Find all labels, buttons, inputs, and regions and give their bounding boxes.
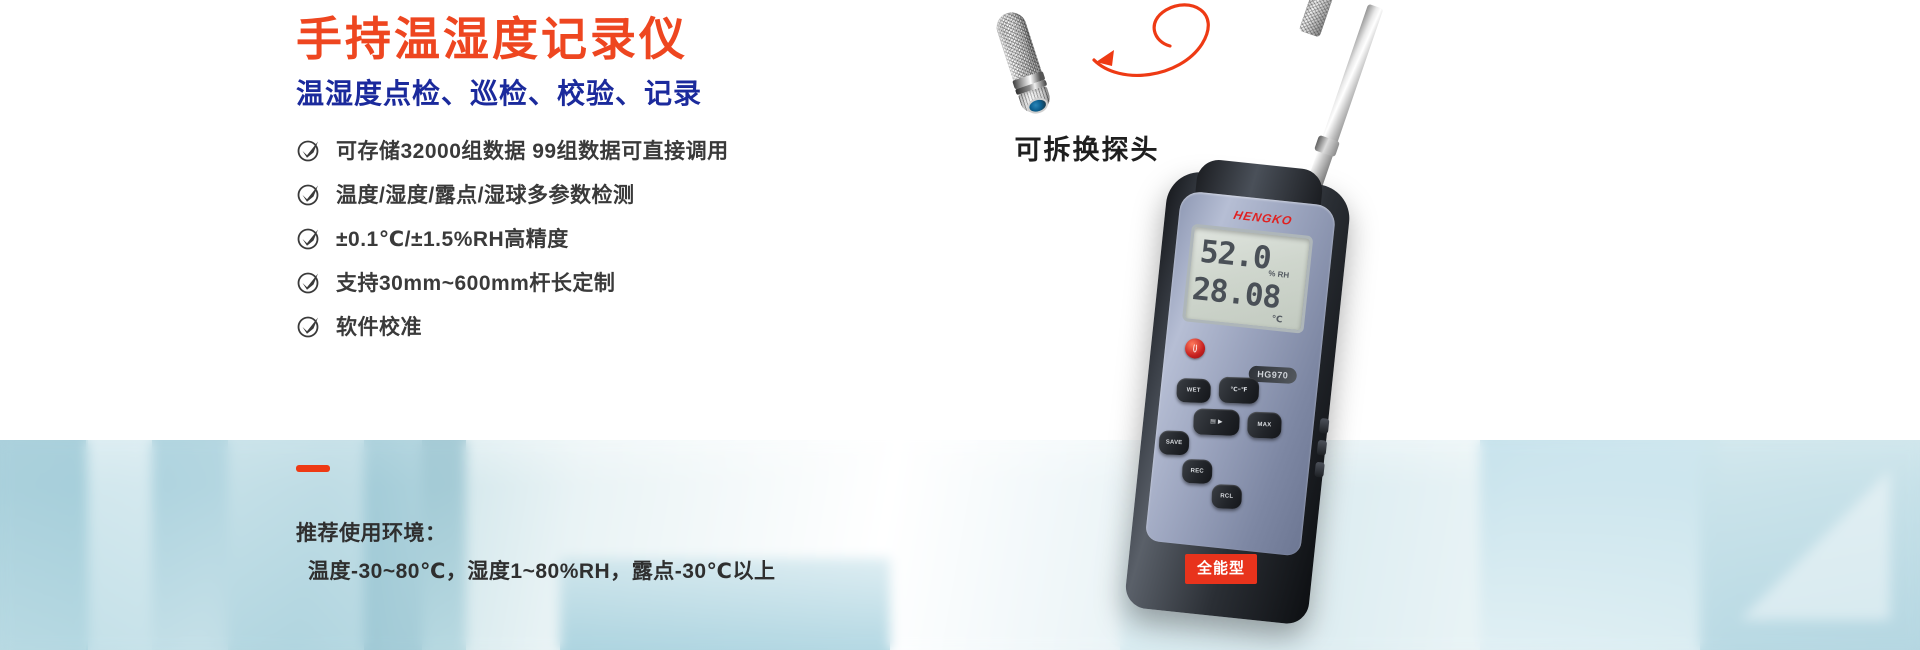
list-item: 可存储32000组数据 99组数据可直接调用 [296,128,1056,172]
device-probe-tip [1299,0,1338,38]
brand-logo: HENGKO [1222,207,1305,229]
page-title: 手持温湿度记录仪 [296,0,1056,62]
feature-text: ±0.1℃/±1.5%RH高精度 [336,223,569,253]
probe-body [993,7,1057,116]
save-button[interactable]: SAVE [1159,430,1190,455]
save-button-label: SAVE [1166,439,1183,447]
list-item: 软件校准 [296,304,1056,348]
rcl-button-label: RCL [1220,493,1233,500]
backlight-button[interactable]: ▤ ▶ [1193,408,1240,436]
device-front-panel: HENGKO 52.0 % RH 28.08 ℃ HG970 WET ℃ｰ℉ [1145,190,1337,556]
max-min-button-label: MAX [1257,421,1271,428]
rec-button[interactable]: REC [1182,459,1213,484]
probe-sintered-filter [993,9,1043,83]
background-photo-band [0,440,1920,650]
unit-toggle-button[interactable]: ℃ｰ℉ [1218,377,1259,404]
side-button[interactable] [1314,462,1325,478]
side-button[interactable] [1319,418,1330,434]
unit-toggle-button-label: ℃ｰ℉ [1230,387,1248,395]
list-item: 支持30mm~600mm杆长定制 [296,260,1056,304]
max-min-button[interactable]: MAX [1247,412,1282,439]
wet-dp-button-label: WET [1187,387,1201,394]
feature-text: 温度/湿度/露点/湿球多参数检测 [336,179,635,209]
feature-text: 可存储32000组数据 99组数据可直接调用 [336,135,729,165]
band-blur-overlay [0,440,1920,650]
check-circle-icon [296,313,322,339]
check-circle-icon [296,225,322,251]
section-divider [296,465,330,472]
headline-column: 手持温湿度记录仪 温湿度点检、巡检、校验、记录 可存储32000组数据 99组数… [296,0,1056,348]
feature-text: 支持30mm~600mm杆长定制 [336,267,615,297]
rec-button-label: REC [1190,468,1204,475]
humidity-reading: 52.0 [1198,234,1272,277]
check-circle-icon [296,137,322,163]
device-side-buttons[interactable] [1311,418,1330,505]
page-subtitle: 温湿度点检、巡检、校验、记录 [296,80,1056,108]
side-button[interactable] [1317,440,1328,456]
list-item: ±0.1℃/±1.5%RH高精度 [296,216,1056,260]
environment-heading: 推荐使用环境： [296,515,776,553]
check-circle-icon [296,269,322,295]
backlight-button-label: ▤ ▶ [1210,418,1223,425]
environment-note: 推荐使用环境： 温度-30~80℃，湿度1~80%RH，露点-30℃以上 [296,515,776,591]
product-device-image: HENGKO 52.0 % RH 28.08 ℃ HG970 WET ℃ｰ℉ [1100,0,1440,650]
rcl-button[interactable]: RCL [1211,484,1242,509]
check-circle-icon [296,181,322,207]
environment-detail: 温度-30~80℃，湿度1~80%RH，露点-30℃以上 [296,553,776,591]
product-banner: 手持温湿度记录仪 温湿度点检、巡检、校验、记录 可存储32000组数据 99组数… [0,0,1920,650]
status-badge: 全能型 [1185,554,1257,584]
feature-list: 可存储32000组数据 99组数据可直接调用 温度/湿度/露点/湿球多参数检测 [296,128,1056,348]
lcd-display: 52.0 % RH 28.08 ℃ [1182,224,1314,334]
wet-dp-button[interactable]: WET [1176,378,1211,403]
feature-text: 软件校准 [336,311,422,341]
list-item: 温度/湿度/露点/湿球多参数检测 [296,172,1056,216]
temperature-unit: ℃ [1271,313,1283,325]
